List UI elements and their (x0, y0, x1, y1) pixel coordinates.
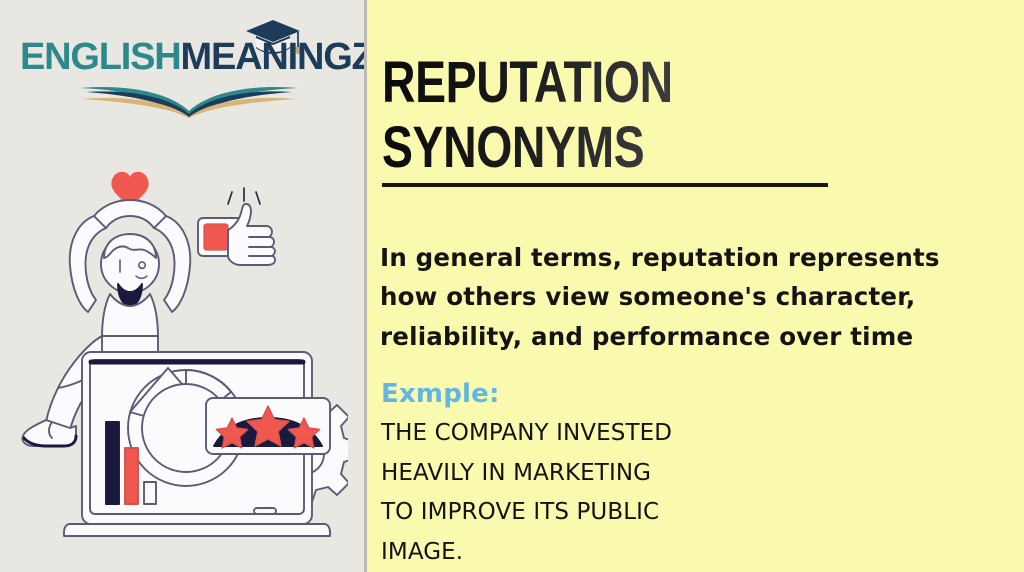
left-panel: ENGLISHMEANINGZ (0, 0, 364, 572)
example-line-2: HEAVILY IN MARKETING (381, 454, 801, 494)
open-book-icon (74, 76, 304, 118)
star-rating-card (206, 398, 330, 454)
example-line-4: IMAGE. (381, 533, 801, 572)
infographic-card: ENGLISHMEANINGZ (0, 0, 1024, 572)
definition-text: In general terms, reputation represents … (380, 238, 940, 357)
example-label: Exmple: (381, 379, 500, 409)
brand-wordmark: ENGLISHMEANINGZ (20, 38, 350, 76)
example-line-1: THE COMPANY INVESTED (381, 414, 801, 454)
page-title: REPUTATION SYNONYMS (382, 55, 886, 175)
title-line-1: REPUTATION (382, 55, 886, 110)
example-sentence: THE COMPANY INVESTED HEAVILY IN MARKETIN… (381, 414, 801, 572)
reputation-illustration (18, 160, 348, 560)
title-line-2: SYNONYMS (382, 120, 886, 175)
example-line-3: TO IMPROVE ITS PUBLIC (381, 493, 801, 533)
brand-word-english: ENGLISH (20, 36, 181, 78)
title-underline-rule (382, 183, 828, 187)
brand-logo[interactable]: ENGLISHMEANINGZ (14, 14, 350, 114)
thumbs-up-icon (198, 188, 275, 265)
right-panel: REPUTATION SYNONYMS In general terms, re… (367, 0, 1024, 572)
brand-word-meaningz: MEANINGZ (181, 36, 364, 78)
